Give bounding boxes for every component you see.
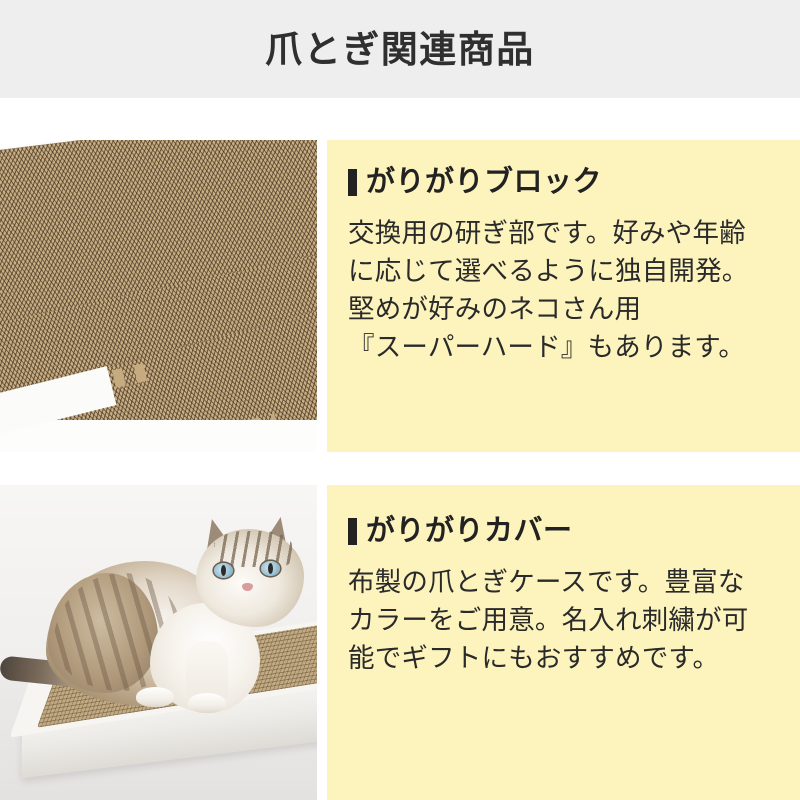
cat-forehead-stripes	[214, 531, 292, 567]
section-gari-gari-block: がりがりブロック 交換用の研ぎ部です。好みや年齢 に応じて選べるように独自開発。…	[0, 140, 800, 452]
info-panel-block: がりがりブロック 交換用の研ぎ部です。好みや年齢 に応じて選べるように独自開発。…	[327, 140, 800, 452]
section-gari-gari-cover: がりがりカバー 布製の爪とぎケースです。豊富な カラーをご用意。名入れ刺繍が可 …	[0, 485, 800, 800]
product-info-page: 爪とぎ関連商品 がりがりブロック 交換用の研ぎ部です。好みや年齢 に応じて選べる…	[0, 0, 800, 800]
product-photo-cover	[0, 485, 317, 800]
cat-paw	[188, 693, 226, 713]
section-heading-cover: がりがりカバー	[348, 517, 786, 546]
body-line: 布製の爪とぎケースです。豊富な	[348, 563, 786, 601]
body-line: 交換用の研ぎ部です。好みや年齢	[348, 214, 786, 252]
product-photo-block	[0, 140, 317, 452]
cat-paw	[136, 687, 174, 707]
square-bullet-icon	[348, 169, 357, 196]
cat-pupil-right	[268, 563, 273, 574]
cat-illustration	[18, 511, 317, 721]
section-body-cover: 布製の爪とぎケースです。豊富な カラーをご用意。名入れ刺繍が可 能でギフトにもお…	[348, 563, 786, 677]
square-bullet-icon	[348, 518, 357, 545]
body-line: カラーをご用意。名入れ刺繍が可	[348, 601, 786, 639]
cardboard-honeycomb-image	[0, 140, 317, 452]
cat-on-scratcher-image	[0, 485, 317, 800]
body-line: 能でギフトにもおすすめです。	[348, 639, 786, 677]
page-header: 爪とぎ関連商品	[0, 0, 800, 98]
section-heading-text: がりがりブロック	[366, 168, 602, 197]
section-heading-text: がりがりカバー	[366, 517, 573, 546]
body-line: に応じて選べるように独自開発。	[348, 252, 786, 290]
info-panel-cover: がりがりカバー 布製の爪とぎケースです。豊富な カラーをご用意。名入れ刺繍が可 …	[327, 485, 800, 800]
body-line: 堅めが好みのネコさん用	[348, 290, 786, 328]
page-title: 爪とぎ関連商品	[265, 31, 535, 68]
cat-pupil-left	[221, 565, 226, 576]
body-line: 『スーパーハード』もあります。	[348, 328, 786, 366]
section-heading-block: がりがりブロック	[348, 168, 786, 197]
section-body-block: 交換用の研ぎ部です。好みや年齢 に応じて選べるように独自開発。 堅めが好みのネコ…	[348, 214, 786, 366]
photo-backdrop-bottom	[0, 420, 317, 452]
